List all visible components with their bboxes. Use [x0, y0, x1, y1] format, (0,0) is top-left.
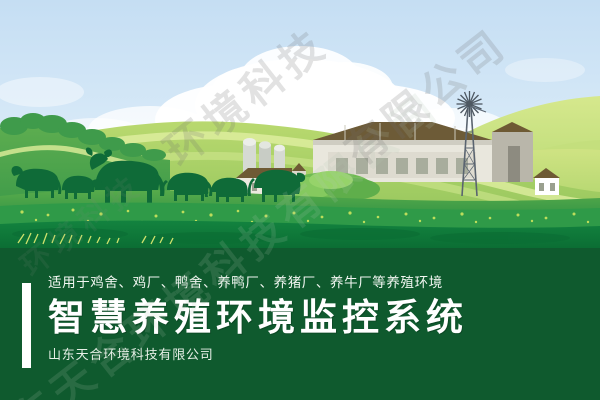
farm-scene-svg [0, 0, 600, 248]
banner-subtitle: 适用于鸡舍、鸡厂、鸭舍、养鸭厂、养猪厂、养牛厂等养殖环境 [48, 276, 588, 290]
main-barn [313, 122, 533, 182]
accent-bar [22, 283, 31, 368]
title-banner: 适用于鸡舍、鸡厂、鸭舍、养鸭厂、养猪厂、养牛厂等养殖环境 智慧养殖环境监控系统 … [0, 248, 600, 400]
promo-poster: 适用于鸡舍、鸡厂、鸭舍、养鸭厂、养猪厂、养牛厂等养殖环境 智慧养殖环境监控系统 … [0, 0, 600, 400]
farm-scene-illustration [0, 0, 600, 248]
page-title: 智慧养殖环境监控系统 [48, 299, 588, 336]
company-name: 山东天合环境科技有限公司 [48, 348, 588, 361]
banner-text-block: 适用于鸡舍、鸡厂、鸭舍、养鸭厂、养猪厂、养牛厂等养殖环境 智慧养殖环境监控系统 … [48, 276, 588, 361]
